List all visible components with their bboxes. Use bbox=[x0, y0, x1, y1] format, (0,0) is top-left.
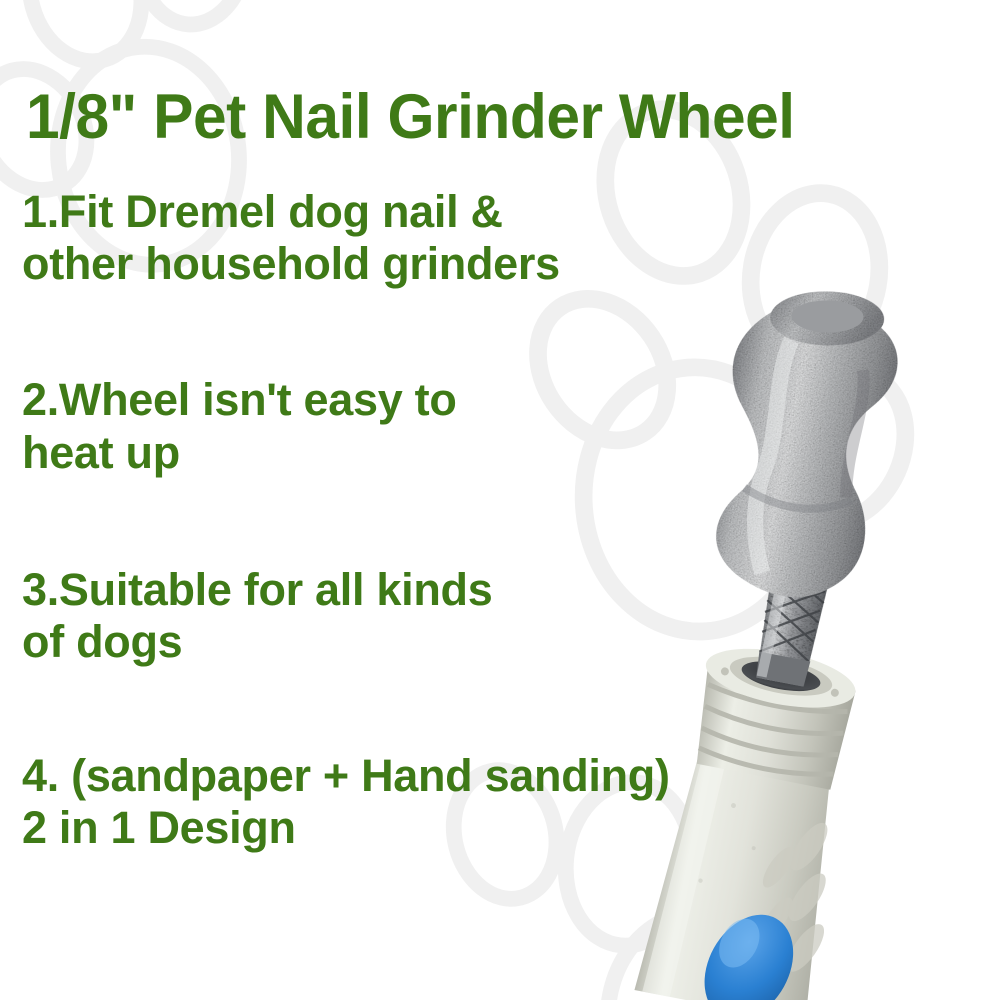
page-title: 1/8" Pet Nail Grinder Wheel bbox=[26, 86, 948, 149]
feature-item-no-heat: 2.Wheel isn't easy to heat up bbox=[22, 374, 822, 478]
feature-item-all-dogs: 3.Suitable for all kinds of dogs bbox=[22, 564, 822, 668]
feature-item-two-in-one: 4. (sandpaper + Hand sanding) 2 in 1 Des… bbox=[22, 750, 822, 854]
feature-item-fit-dremel: 1.Fit Dremel dog nail & other household … bbox=[22, 186, 822, 290]
blue-power-button[interactable] bbox=[682, 892, 816, 1000]
product-feature-image: 1/8" Pet Nail Grinder Wheel 1.Fit Dremel… bbox=[0, 0, 1000, 1000]
feature-list: 1.Fit Dremel dog nail & other household … bbox=[22, 186, 822, 855]
